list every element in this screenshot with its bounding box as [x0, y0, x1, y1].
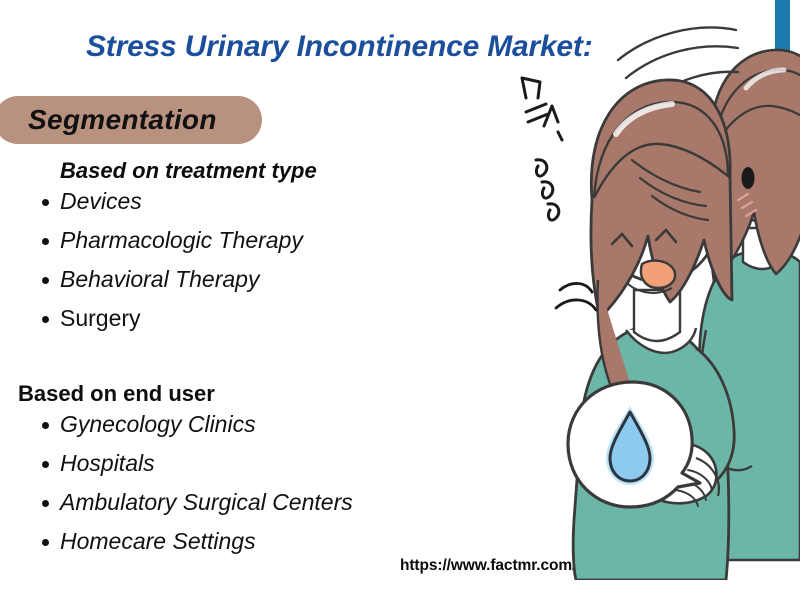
- list-item-label: Surgery: [60, 305, 141, 331]
- bullet-dot-icon: [42, 461, 49, 468]
- list-item: Hospitals: [0, 444, 470, 483]
- bullet-dot-icon: [42, 316, 49, 323]
- list-item: Ambulatory Surgical Centers: [0, 483, 470, 522]
- bullet-dot-icon: [42, 199, 49, 206]
- list-item-label: Devices: [60, 188, 142, 214]
- list-item-label: Behavioral Therapy: [60, 266, 259, 292]
- list-item: Gynecology Clinics: [0, 405, 470, 444]
- list-item-label: Pharmacologic Therapy: [60, 227, 303, 253]
- list-item: Surgery: [0, 299, 470, 338]
- section-heading-treatment-type: Based on treatment type: [0, 160, 470, 182]
- bullet-dot-icon: [42, 277, 49, 284]
- list-item: Devices: [0, 182, 470, 221]
- bullet-dot-icon: [42, 500, 49, 507]
- segmentation-badge-label: Segmentation: [28, 104, 217, 136]
- section-heading-end-user: Based on end user: [0, 383, 470, 405]
- list-item-label: Homecare Settings: [60, 528, 256, 554]
- section-end-user: Based on end user Gynecology Clinics Hos…: [0, 383, 470, 561]
- list-treatment-type: Devices Pharmacologic Therapy Behavioral…: [0, 182, 470, 338]
- bullet-dot-icon: [42, 539, 49, 546]
- list-item: Pharmacologic Therapy: [0, 221, 470, 260]
- list-item-label: Ambulatory Surgical Centers: [60, 489, 353, 515]
- list-item-label: Gynecology Clinics: [60, 411, 256, 437]
- list-item: Behavioral Therapy: [0, 260, 470, 299]
- section-treatment-type: Based on treatment type Devices Pharmaco…: [0, 160, 470, 338]
- list-item-label: Hospitals: [60, 450, 155, 476]
- bullet-dot-icon: [42, 422, 49, 429]
- bullet-dot-icon: [42, 238, 49, 245]
- illustration-two-women: [500, 0, 800, 580]
- emotion-marks: [522, 78, 562, 220]
- segmentation-badge: Segmentation: [0, 96, 262, 144]
- slide-canvas: Stress Urinary Incontinence Market: Segm…: [0, 0, 800, 591]
- list-end-user: Gynecology Clinics Hospitals Ambulatory …: [0, 405, 470, 561]
- list-item: Homecare Settings: [0, 522, 470, 561]
